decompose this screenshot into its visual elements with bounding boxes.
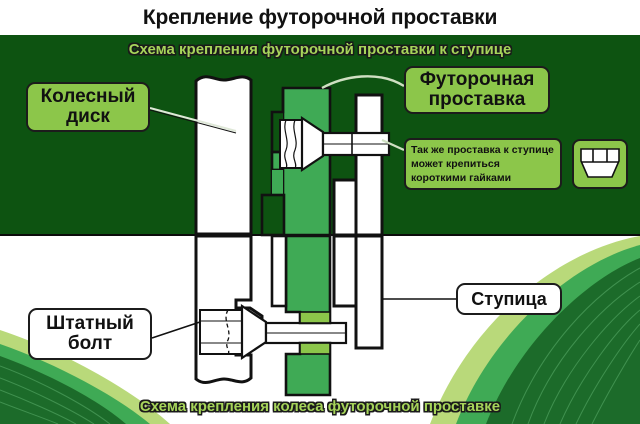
diagram-root: Крепление футорочной проставки Схема кре… (0, 0, 640, 424)
nut-icon (578, 146, 622, 182)
mechanical-drawing-layer (0, 0, 640, 424)
lower-banner-text: Схема крепления колеса футорочной проста… (0, 398, 640, 415)
lower-spacer-upper-block (286, 236, 330, 323)
upper-spacer-column (262, 195, 284, 235)
label-wheel-disc[interactable]: Колесный диск (26, 82, 150, 132)
upper-hub-flange (356, 95, 382, 235)
label-stock-bolt[interactable]: Штатный болт (28, 308, 152, 360)
leader-spacer (322, 76, 404, 88)
lower-spacer-left-column (272, 236, 286, 306)
leader-stock-bolt (152, 322, 200, 338)
nut-icon-container (572, 139, 628, 189)
lower-spacer-insert-bottom (300, 343, 330, 354)
upper-assembly (150, 76, 404, 235)
upper-wheel-disc (196, 77, 251, 234)
lower-spacer-insert-top (300, 312, 330, 323)
decorative-swoosh-right (430, 236, 640, 424)
lower-hub-flange (356, 236, 382, 348)
label-futoroka-spacer[interactable]: Футорочная проставка (404, 66, 550, 114)
label-short-nuts-note[interactable]: Так же проставка к ступице может крепить… (404, 138, 562, 190)
label-hub[interactable]: Ступица (456, 283, 562, 315)
lower-hub-plate (334, 236, 356, 306)
upper-hub-flange-lower (334, 180, 356, 235)
lower-assembly (152, 236, 456, 395)
